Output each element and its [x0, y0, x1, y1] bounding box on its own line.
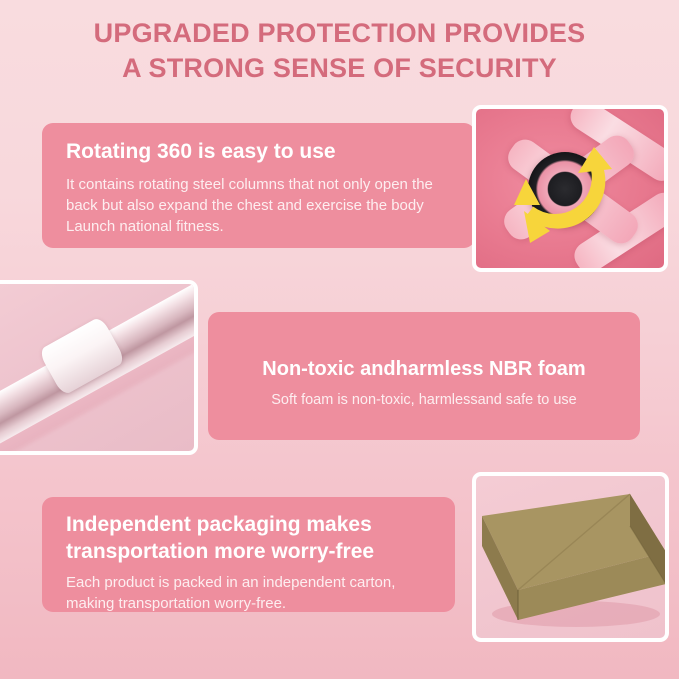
- feature-body-rotating-360: It contains rotating steel columns that …: [66, 174, 455, 237]
- page-title-line-2: A STRONG SENSE OF SECURITY: [0, 51, 679, 86]
- page-title: UPGRADED PROTECTION PROVIDES A STRONG SE…: [0, 16, 679, 86]
- feature-card-rotating-360: Rotating 360 is easy to use It contains …: [42, 123, 475, 248]
- rotation-arrows-icon: [500, 127, 628, 253]
- rotating-hub-photo: Pink X-shaped rotating steel column hub …: [472, 105, 668, 272]
- foam-grip-photo: Close-up of pink metallic bar with white…: [0, 280, 198, 455]
- feature-body-independent-packaging: Each product is packed in an independent…: [66, 572, 439, 614]
- cardboard-carton-icon: [480, 488, 669, 638]
- feature-card-independent-packaging: Independent packaging makes transportati…: [42, 497, 455, 612]
- infographic-page: UPGRADED PROTECTION PROVIDES A STRONG SE…: [0, 0, 679, 679]
- feature-title-independent-packaging: Independent packaging makes transportati…: [66, 511, 439, 565]
- feature-body-nbr-foam: Soft foam is non-toxic, harmlessand safe…: [208, 390, 640, 411]
- feature-title-line-2: transportation more worry-free: [66, 540, 374, 563]
- feature-title-nbr-foam: Non-toxic andharmless NBR foam: [208, 356, 640, 382]
- feature-title-rotating-360: Rotating 360 is easy to use: [66, 139, 455, 165]
- feature-title-line-1: Independent packaging makes: [66, 513, 372, 536]
- page-title-line-1: UPGRADED PROTECTION PROVIDES: [0, 16, 679, 51]
- carton-box-photo: Long brown cardboard shipping carton on …: [472, 472, 669, 642]
- feature-card-nbr-foam: Non-toxic andharmless NBR foam Soft foam…: [208, 312, 640, 440]
